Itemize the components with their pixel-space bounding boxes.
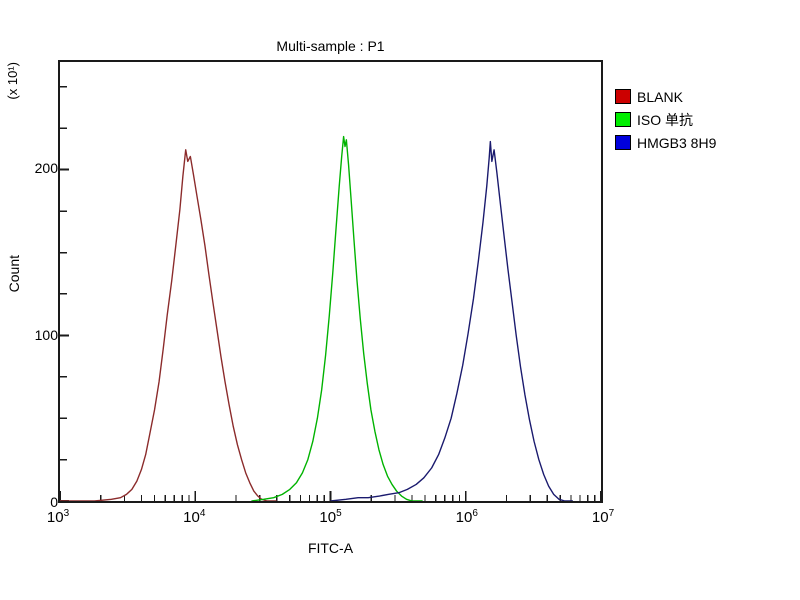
legend-item-label: ISO 单抗	[637, 110, 693, 130]
series-curve	[251, 137, 422, 501]
legend-color-swatch	[615, 112, 631, 127]
plot-area	[58, 60, 603, 503]
legend-color-swatch	[615, 89, 631, 104]
chart-title: Multi-sample : P1	[58, 38, 603, 54]
legend-item[interactable]: ISO 单抗	[615, 109, 716, 130]
x-axis-tick-label: 104	[183, 508, 205, 526]
x-axis-title: FITC-A	[58, 540, 603, 556]
y-axis-tick-label: 200	[12, 160, 58, 176]
legend-item[interactable]: BLANK	[615, 86, 716, 107]
x-axis-tick-label: 106	[456, 508, 478, 526]
series-curve	[331, 142, 573, 501]
x-axis-tick-label: 103	[47, 508, 69, 526]
flow-cytometry-histogram: Multi-sample : P1 (x 10¹) Count FITC-A 0…	[0, 0, 800, 600]
legend-item-label: BLANK	[637, 89, 683, 105]
x-axis-tick-label: 105	[319, 508, 341, 526]
y-axis-tick-label: 100	[12, 327, 58, 343]
x-axis-tick-label: 107	[592, 508, 614, 526]
legend-color-swatch	[615, 135, 631, 150]
legend-item[interactable]: HMGB3 8H9	[615, 132, 716, 153]
legend: BLANKISO 单抗HMGB3 8H9	[615, 86, 716, 155]
histogram-curves	[60, 62, 601, 501]
legend-item-label: HMGB3 8H9	[637, 135, 716, 151]
series-curve	[60, 150, 277, 501]
